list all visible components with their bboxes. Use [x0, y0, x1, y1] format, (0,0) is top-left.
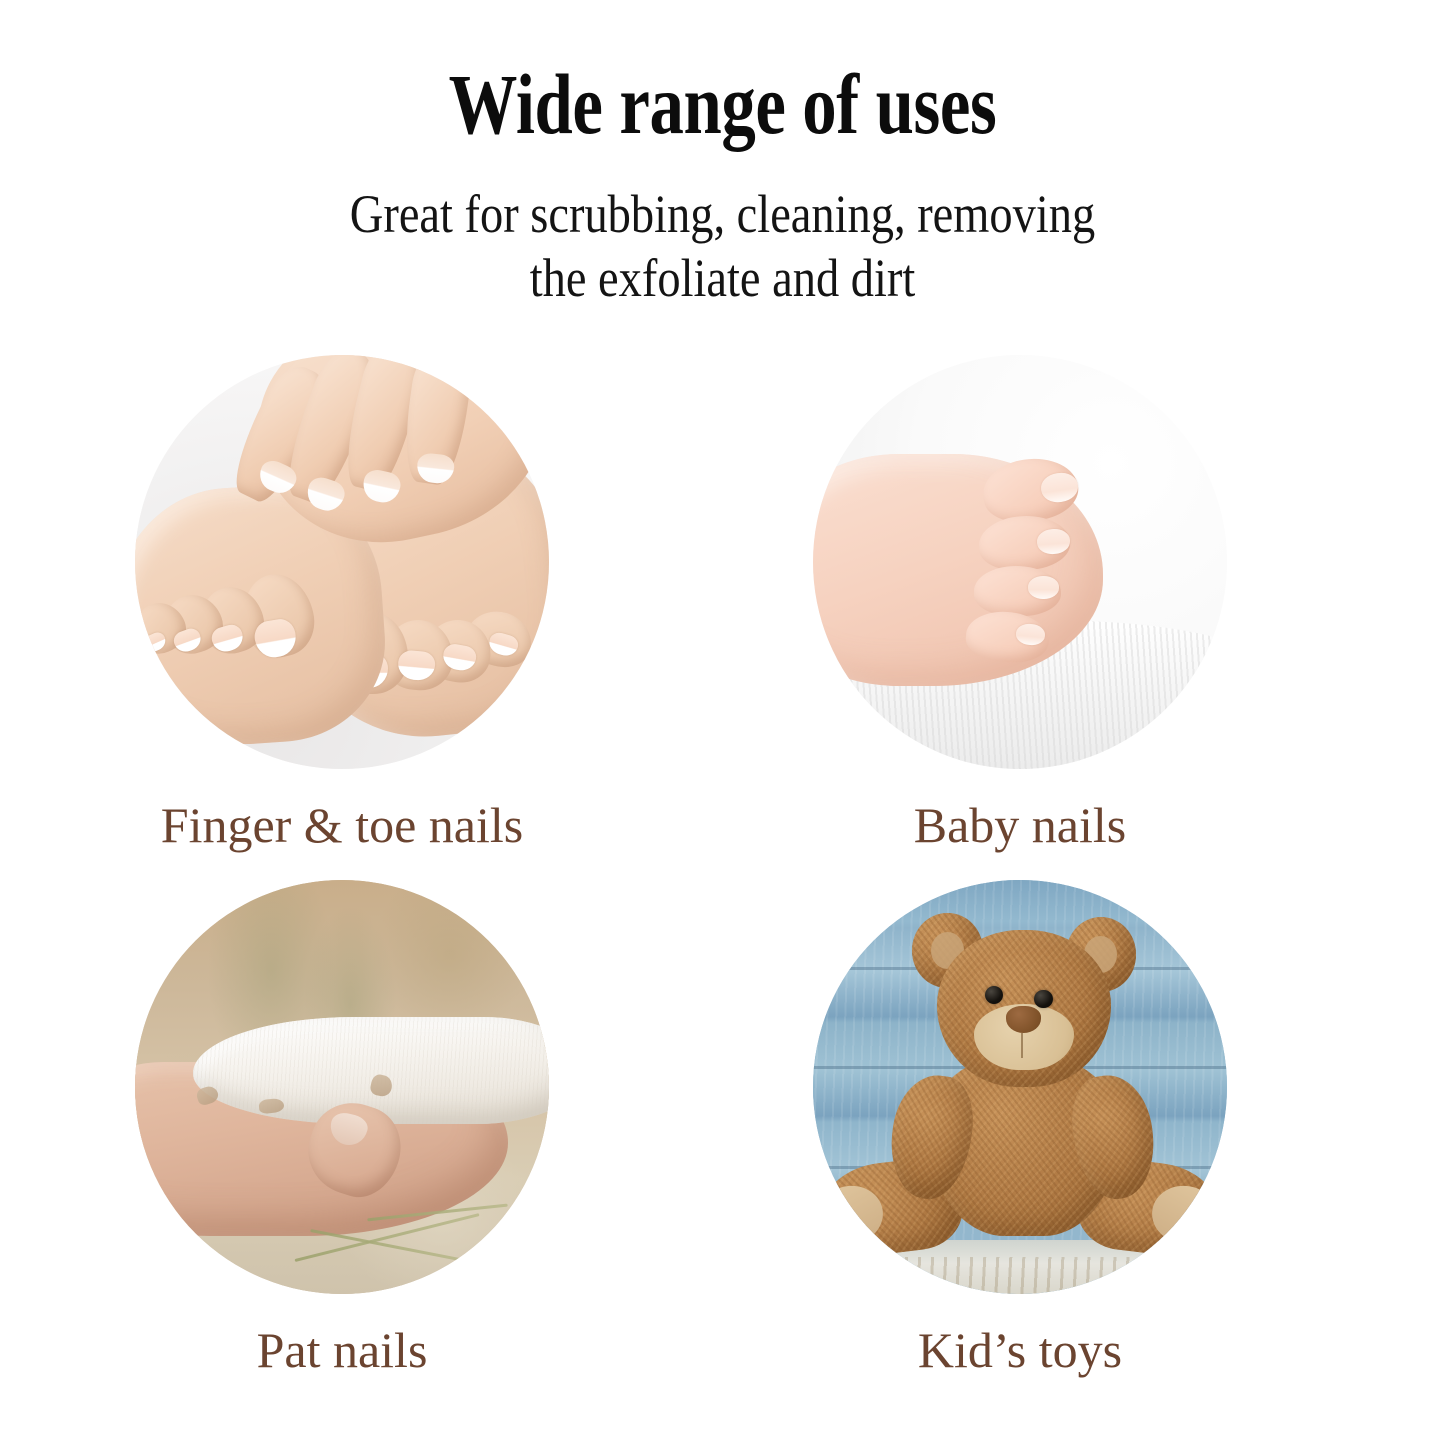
- teddy-bear-photo: [813, 880, 1227, 1294]
- subtitle-line-1: Great for scrubbing, cleaning, removing: [101, 182, 1344, 246]
- teddy-eye-left: [985, 986, 1003, 1004]
- dog-paw-illustration: [135, 880, 549, 1294]
- header: Wide range of uses Great for scrubbing, …: [0, 56, 1445, 310]
- use-caption: Pat nails: [92, 1322, 592, 1378]
- baby-foot-photo: [813, 355, 1227, 769]
- use-caption: Baby nails: [770, 797, 1270, 853]
- teddy-bear-illustration: [813, 880, 1227, 1294]
- feet-and-hands-illustration: [135, 355, 549, 769]
- use-item-kids-toys: Kid’s toys: [770, 880, 1270, 1378]
- subtitle-line-2: the exfoliate and dirt: [101, 246, 1344, 310]
- page-subtitle: Great for scrubbing, cleaning, removing …: [101, 182, 1344, 310]
- page-title: Wide range of uses: [145, 56, 1301, 152]
- use-item-baby-nails: Baby nails: [770, 355, 1270, 853]
- use-caption: Finger & toe nails: [92, 797, 592, 853]
- promo-page: Wide range of uses Great for scrubbing, …: [0, 0, 1445, 1445]
- baby-foot-illustration: [813, 355, 1227, 769]
- use-caption: Kid’s toys: [770, 1322, 1270, 1378]
- use-item-finger-toe-nails: Finger & toe nails: [92, 355, 592, 853]
- uses-row-1: Finger & toe nails: [0, 355, 1445, 880]
- uses-row-2: Pat nails: [0, 880, 1445, 1405]
- feet-and-hands-photo: [135, 355, 549, 769]
- teddy-eye-right: [1034, 990, 1052, 1008]
- dog-paw-in-hand-photo: [135, 880, 549, 1294]
- uses-grid: Finger & toe nails: [0, 355, 1445, 1405]
- use-item-pat-nails: Pat nails: [92, 880, 592, 1378]
